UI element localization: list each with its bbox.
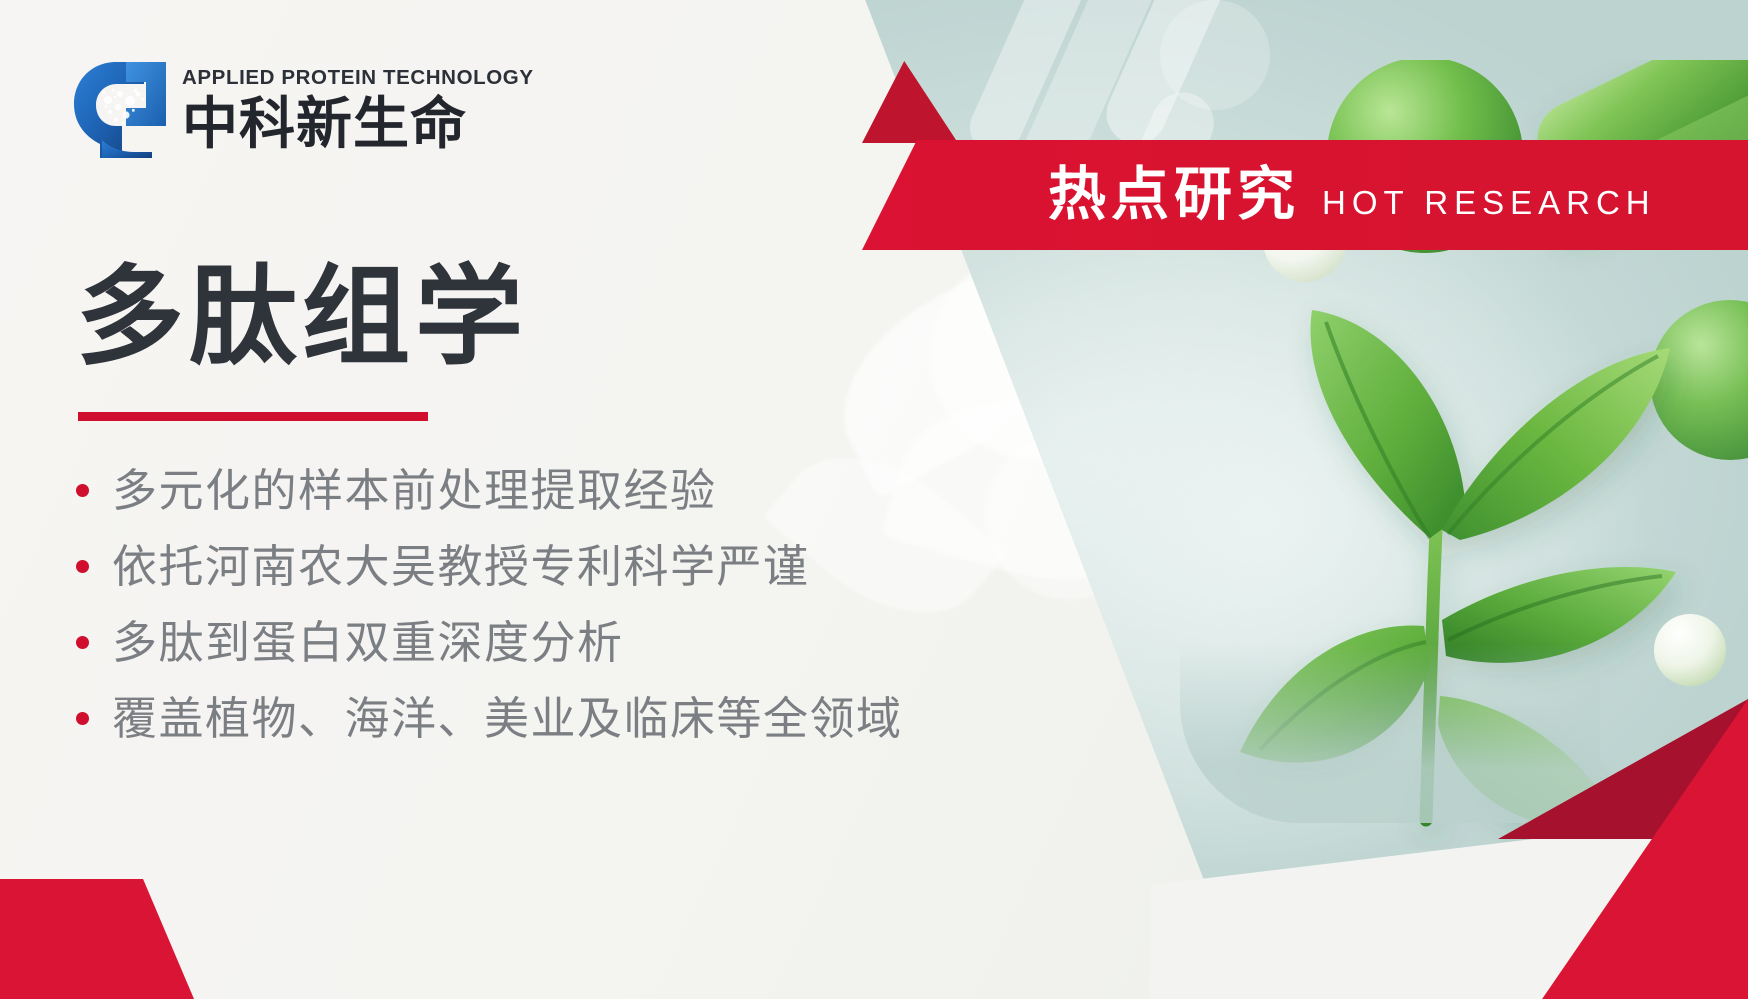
molecular-p-logo-icon — [72, 60, 168, 160]
bullet-dot-icon — [76, 560, 89, 573]
title-underline-rule — [78, 412, 428, 421]
list-item-label: 多元化的样本前处理提取经验 — [112, 468, 717, 513]
list-item: 多元化的样本前处理提取经验 — [76, 452, 1056, 528]
brand-text: APPLIED PROTEIN TECHNOLOGY 中科新生命 — [182, 68, 534, 152]
feature-list: 多元化的样本前处理提取经验 依托河南农大吴教授专利科学严谨 多肽到蛋白双重深度分… — [76, 452, 1056, 756]
list-item: 覆盖植物、海洋、美业及临床等全领域 — [76, 680, 1056, 756]
brand-chinese-name: 中科新生命 — [182, 95, 534, 152]
page-title: 多肽组学 — [76, 258, 528, 377]
hot-research-ribbon: 热点研究 HOT RESEARCH — [862, 140, 1748, 250]
list-item-label: 依托河南农大吴教授专利科学严谨 — [112, 544, 810, 589]
list-item-label: 覆盖植物、海洋、美业及临床等全领域 — [112, 696, 903, 741]
bullet-dot-icon — [76, 484, 89, 497]
ribbon-label-english: HOT RESEARCH — [1322, 186, 1656, 219]
list-item: 依托河南农大吴教授专利科学严谨 — [76, 528, 1056, 604]
brand-logo: APPLIED PROTEIN TECHNOLOGY 中科新生命 — [72, 60, 534, 160]
ribbon-content: 热点研究 HOT RESEARCH — [1048, 166, 1656, 224]
promo-banner: APPLIED PROTEIN TECHNOLOGY 中科新生命 热点研究 HO… — [0, 0, 1748, 999]
bullet-dot-icon — [76, 636, 89, 649]
ribbon-label-chinese: 热点研究 — [1048, 166, 1300, 224]
list-item-label: 多肽到蛋白双重深度分析 — [112, 620, 624, 665]
list-item: 多肽到蛋白双重深度分析 — [76, 604, 1056, 680]
brand-english-name: APPLIED PROTEIN TECHNOLOGY — [182, 68, 534, 89]
background-teal-rounded-edge — [1180, 643, 1600, 823]
bullet-dot-icon — [76, 712, 89, 725]
